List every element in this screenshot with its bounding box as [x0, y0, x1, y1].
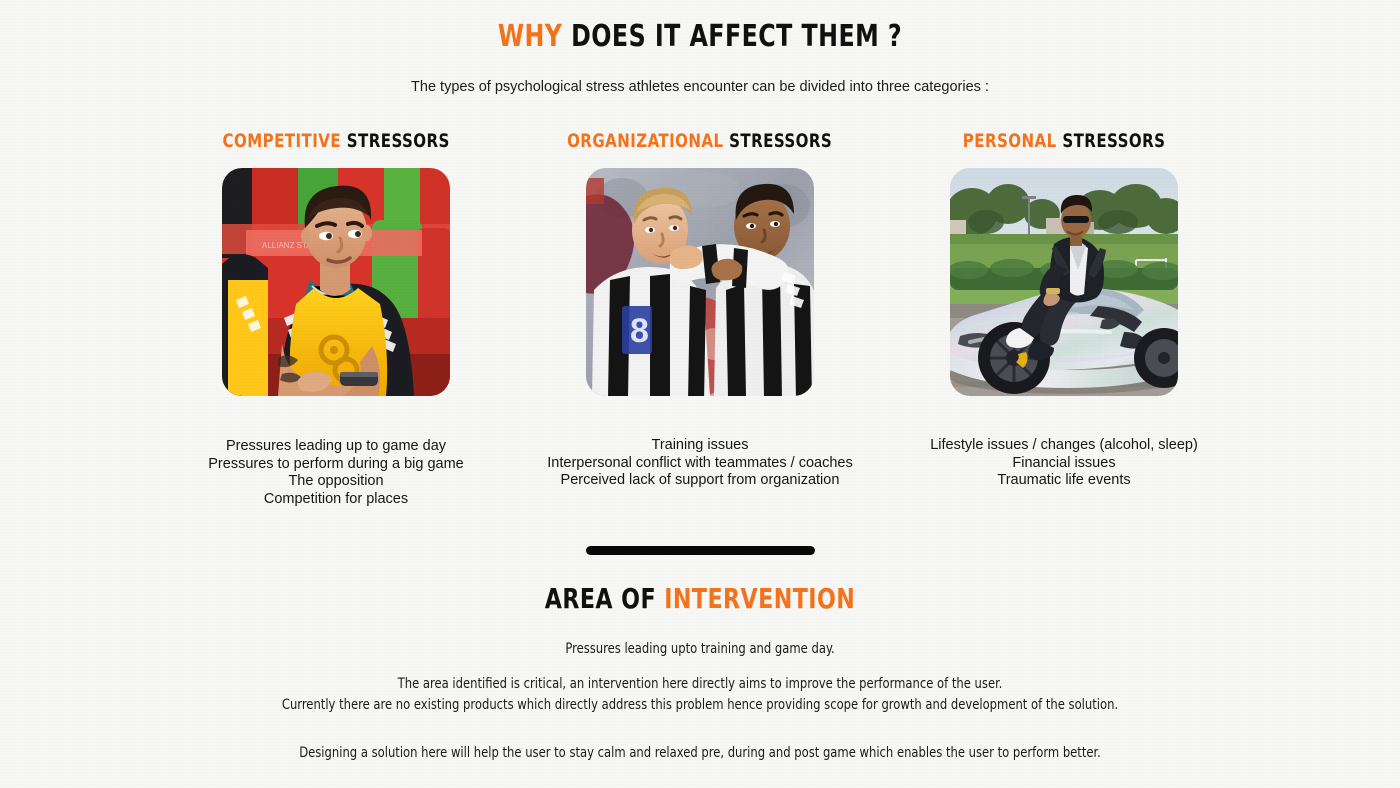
column-image-wrap-competitive: ALLIANZ STADIUM ARENA	[222, 168, 450, 396]
column-title-highlight: ORGANIZATIONAL	[567, 130, 723, 152]
slide-canvas: WHY DOES IT AFFECT THEM ? The types of p…	[0, 0, 1400, 788]
stressor-column-competitive: COMPETITIVE STRESSORS	[160, 130, 512, 508]
teammates-fighting-photo: 8	[586, 168, 814, 396]
area-closing-text: Designing a solution here will help the …	[56, 744, 1344, 763]
area-title-highlight: INTERVENTION	[664, 582, 855, 615]
section-divider	[586, 546, 815, 555]
column-image-wrap-personal	[950, 168, 1178, 396]
column-title-organizational: ORGANIZATIONAL STRESSORS	[567, 130, 832, 154]
column-title-competitive: COMPETITIVE STRESSORS	[222, 130, 449, 154]
page-title-rest: DOES IT AFFECT THEM ?	[562, 19, 902, 54]
column-image-wrap-organizational: 8	[586, 168, 814, 396]
column-title-rest: STRESSORS	[1057, 130, 1166, 152]
area-title-rest: AREA OF	[545, 582, 664, 615]
page-title-highlight: WHY	[498, 19, 563, 54]
athlete-on-sports-car-photo	[950, 168, 1178, 396]
footballer-on-substitutes-bench-photo: ALLIANZ STADIUM ARENA	[222, 168, 450, 396]
column-items-organizational: Training issues Interpersonal conflict w…	[547, 437, 852, 490]
column-title-personal: PERSONAL STRESSORS	[963, 130, 1166, 154]
column-items-personal: Lifestyle issues / changes (alcohol, sle…	[930, 437, 1198, 490]
intro-text: The types of psychological stress athlet…	[0, 77, 1400, 97]
stressor-column-personal: PERSONAL STRESSORS	[888, 130, 1240, 490]
column-title-rest: STRESSORS	[724, 130, 833, 152]
page-title: WHY DOES IT AFFECT THEM ?	[84, 20, 1316, 54]
stressor-column-organizational: ORGANIZATIONAL STRESSORS	[524, 130, 876, 490]
area-of-intervention-title: AREA OF INTERVENTION	[84, 583, 1316, 615]
area-subtitle: Pressures leading upto training and game…	[56, 640, 1344, 659]
column-title-rest: STRESSORS	[341, 130, 450, 152]
svg-text:8: 8	[630, 312, 649, 350]
stressor-columns: COMPETITIVE STRESSORS	[160, 130, 1240, 508]
area-paragraph: The area identified is critical, an inte…	[56, 674, 1344, 716]
column-title-highlight: PERSONAL	[963, 130, 1057, 152]
column-items-competitive: Pressures leading up to game day Pressur…	[208, 438, 464, 508]
column-title-highlight: COMPETITIVE	[222, 130, 341, 152]
